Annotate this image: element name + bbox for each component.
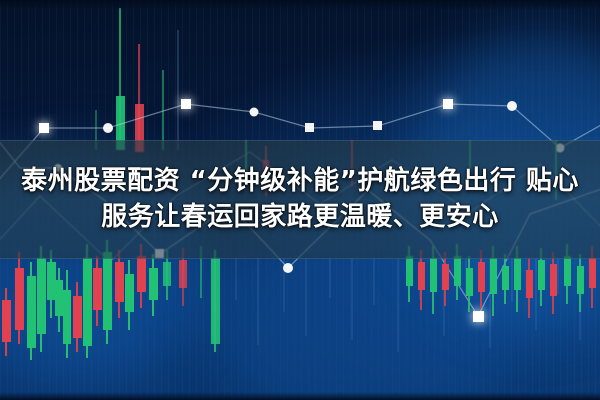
bottom-edge-shade	[0, 392, 600, 400]
top-edge-shade	[0, 0, 600, 10]
headline-line-1: 泰州股票配资 “分钟级补能”护航绿色出行 贴心	[21, 166, 579, 197]
news-banner: 泰州股票配资 “分钟级补能”护航绿色出行 贴心 服务让春运回家路更温暖、更安心	[0, 0, 600, 400]
headline-line-2: 服务让春运回家路更温暖、更安心	[101, 202, 499, 233]
headline: 泰州股票配资 “分钟级补能”护航绿色出行 贴心 服务让春运回家路更温暖、更安心	[0, 140, 600, 259]
wick-group-right	[214, 258, 580, 352]
